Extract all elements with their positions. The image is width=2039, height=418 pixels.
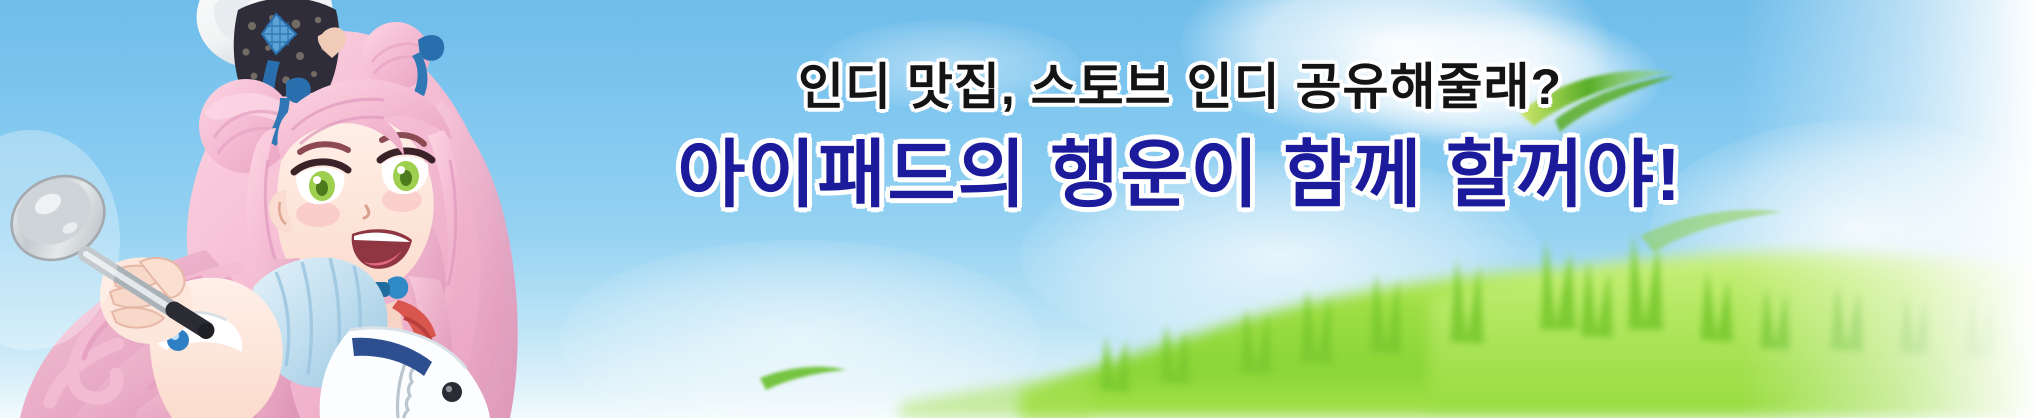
sky-background <box>0 0 2039 418</box>
promo-banner: 인디 맛집, 스토브 인디 공유해줄래? 아이패드의 행운이 함께 할꺼야! <box>0 0 2039 418</box>
